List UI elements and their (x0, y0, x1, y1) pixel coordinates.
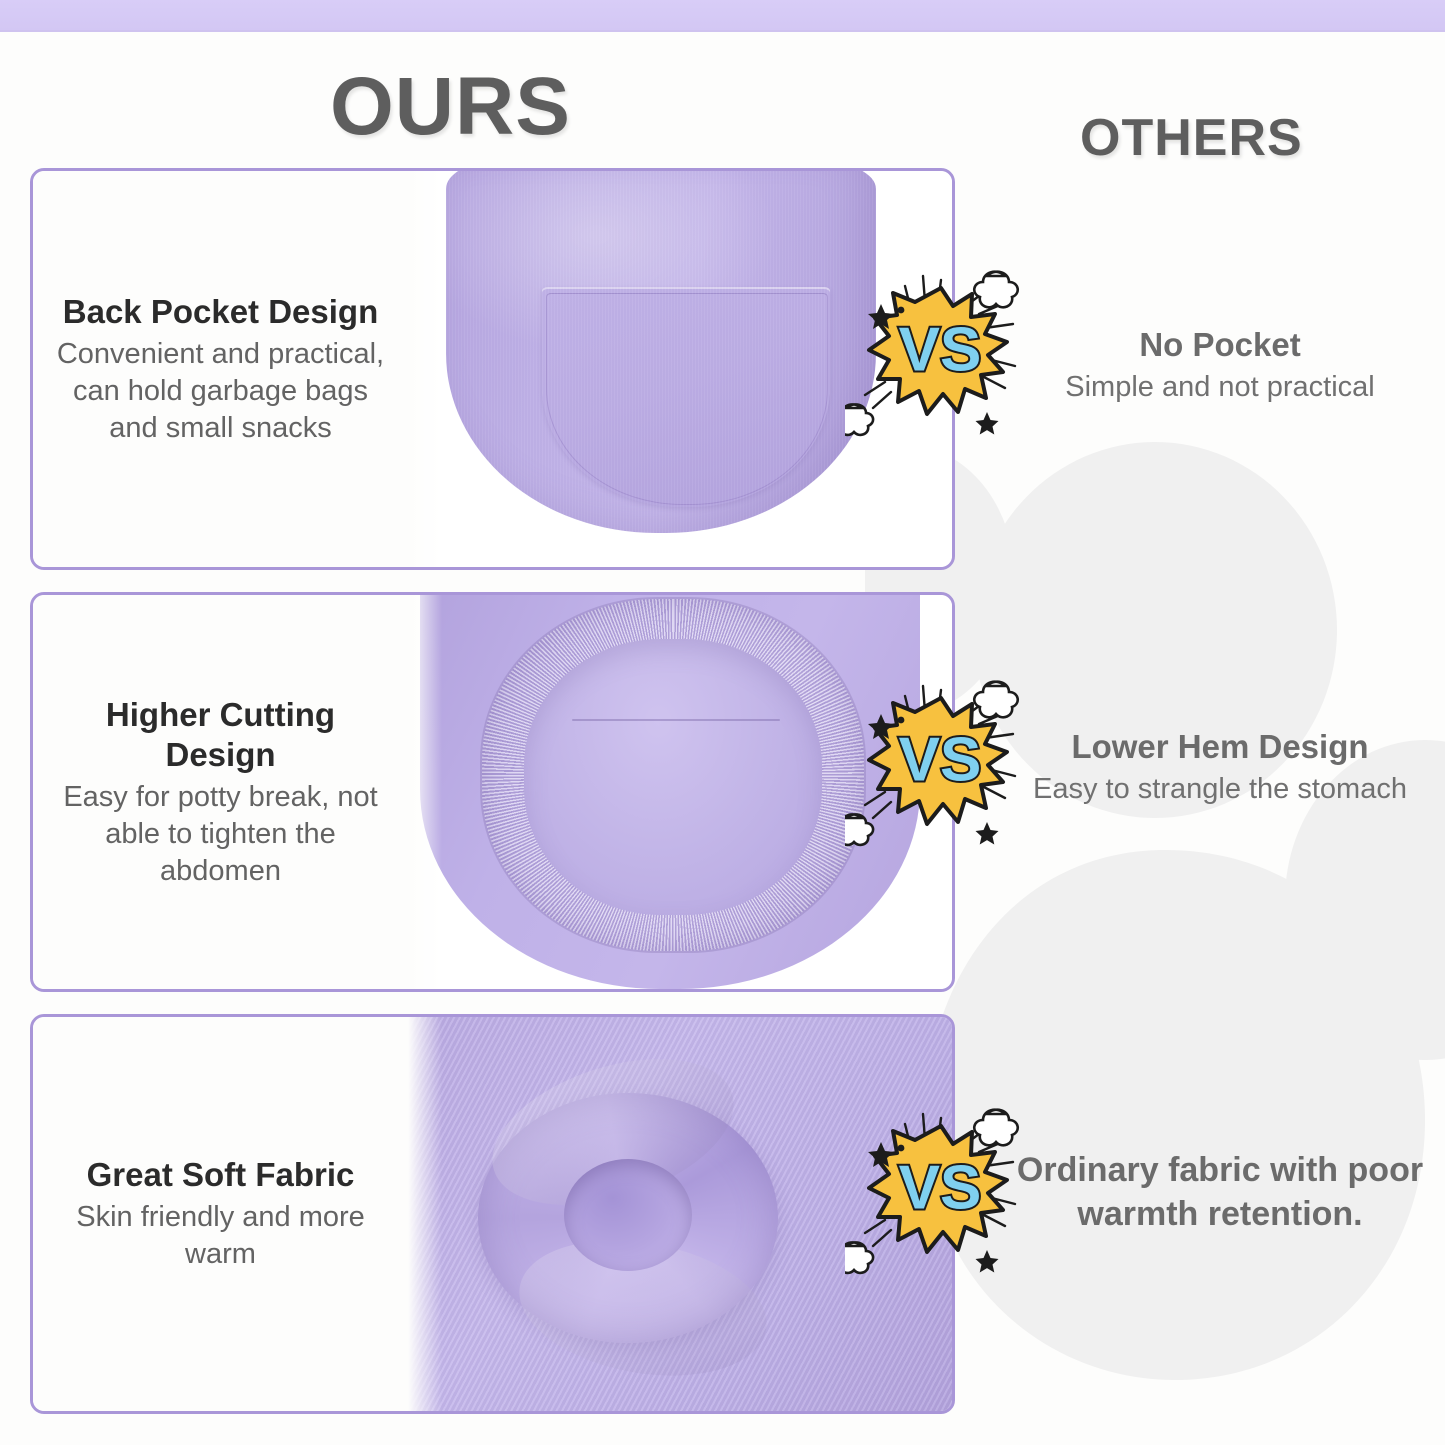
others-text-1: No Pocket Simple and not practical (1005, 324, 1435, 406)
hoodie-body-shape (446, 171, 876, 533)
ours-text-1: Back Pocket Design Convenient and practi… (33, 171, 408, 567)
hoodie-pocket-stitch (546, 293, 828, 505)
vs-badge-icon-1: VS (845, 262, 1040, 447)
ours-title-3: Great Soft Fabric (87, 1155, 355, 1195)
vs-cloud-bottomleft-2 (845, 814, 873, 844)
vs-badge-icon-3: VS (845, 1100, 1040, 1285)
others-subtitle-2: Easy to strangle the stomach (1005, 770, 1435, 808)
header-others: OTHERS (1080, 112, 1303, 164)
vs-cloud-topright-1 (974, 272, 1017, 308)
header-ours: OURS (330, 66, 571, 148)
vs-cloud-topright-2 (974, 682, 1017, 718)
vs-label-2: VS (899, 725, 982, 794)
hoodie-hem-inner (524, 639, 822, 915)
ours-subtitle-2: Easy for potty break, not able to tighte… (47, 779, 394, 890)
ours-text-2: Higher Cutting Design Easy for potty bre… (33, 595, 408, 989)
comparison-row-1: Back Pocket Design Convenient and practi… (30, 168, 955, 570)
ours-text-3: Great Soft Fabric Skin friendly and more… (33, 1017, 408, 1411)
others-title-2: Lower Hem Design (1005, 726, 1435, 768)
photo-left-fade-3 (408, 1017, 442, 1411)
ours-title-2: Higher Cutting Design (47, 695, 394, 775)
vs-cloud-bottomleft-3 (845, 1242, 873, 1272)
ours-subtitle-3: Skin friendly and more warm (47, 1199, 394, 1273)
vs-badge-icon-2: VS (845, 672, 1040, 857)
others-title-3: Ordinary fabric with poor warmth retenti… (1005, 1148, 1435, 1236)
vs-label-1: VS (899, 315, 982, 384)
ours-title-1: Back Pocket Design (63, 292, 378, 332)
ours-subtitle-1: Convenient and practical, can hold garba… (47, 336, 394, 447)
hoodie-pocket-shape (542, 287, 830, 507)
comparison-infographic: OURS OTHERS Back Pocket Design Convenien… (0, 0, 1445, 1445)
hoodie-ribbed-hem-ring (482, 599, 864, 951)
fabric-swirl-shape (478, 1093, 778, 1343)
vs-cloud-topright-3 (974, 1110, 1017, 1146)
headers-row: OURS OTHERS (0, 44, 1445, 154)
photo-left-fade-1 (408, 171, 442, 567)
comparison-row-2: Higher Cutting Design Easy for potty bre… (30, 592, 955, 992)
others-text-3: Ordinary fabric with poor warmth retenti… (1005, 1148, 1435, 1238)
others-text-2: Lower Hem Design Easy to strangle the st… (1005, 726, 1435, 808)
fabric-swirl-core (564, 1159, 692, 1271)
comparison-row-3: Great Soft Fabric Skin friendly and more… (30, 1014, 955, 1414)
vs-cloud-bottomleft-1 (845, 404, 873, 434)
others-subtitle-1: Simple and not practical (1005, 368, 1435, 406)
vs-label-3: VS (899, 1153, 982, 1222)
others-title-1: No Pocket (1005, 324, 1435, 366)
